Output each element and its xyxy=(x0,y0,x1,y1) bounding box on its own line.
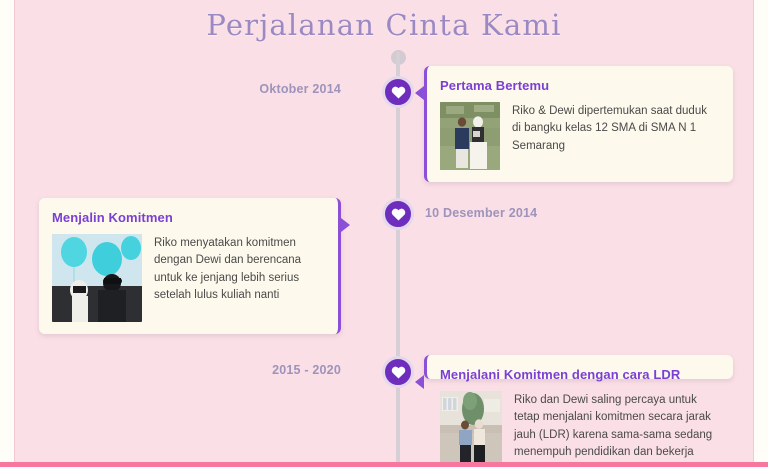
heart-icon xyxy=(391,365,406,379)
card-photo xyxy=(440,102,500,170)
timeline-card[interactable]: Menjalin Komitmen xyxy=(39,198,341,334)
timeline-card[interactable]: Menjalani Komitmen dengan cara LDR xyxy=(424,355,733,379)
card-notch-icon xyxy=(415,86,424,100)
photo-couple-building-icon xyxy=(440,391,502,467)
card-notch-icon xyxy=(415,375,424,389)
timeline-date: 2015 - 2020 xyxy=(272,363,341,377)
page-root: Perjalanan Cinta Kami Oktober 2014 Perta… xyxy=(0,0,768,467)
heart-icon xyxy=(391,207,406,221)
page-title: Perjalanan Cinta Kami xyxy=(15,8,753,42)
card-photo xyxy=(52,234,142,322)
card-title: Menjalani Komitmen dengan cara LDR xyxy=(440,367,719,382)
bottom-accent-bar xyxy=(0,462,768,467)
card-notch-icon xyxy=(341,218,350,232)
card-title: Menjalin Komitmen xyxy=(52,210,324,225)
card-title: Pertama Bertemu xyxy=(440,78,719,93)
photo-couple-field-icon xyxy=(440,102,500,170)
timeline-card[interactable]: Pertama Bertemu xyxy=(424,66,733,182)
timeline-marker[interactable] xyxy=(382,198,414,230)
timeline-marker[interactable] xyxy=(382,356,414,388)
photo-balloons-icon xyxy=(52,234,142,322)
timeline-marker[interactable] xyxy=(382,76,414,108)
timeline-spine xyxy=(396,52,400,462)
timeline-date: Oktober 2014 xyxy=(259,82,341,96)
page-canvas: Perjalanan Cinta Kami Oktober 2014 Perta… xyxy=(14,0,754,462)
card-photo xyxy=(440,391,502,467)
timeline-date: 10 Desember 2014 xyxy=(425,206,537,220)
heart-icon xyxy=(391,85,406,99)
card-text: Riko & Dewi dipertemukan saat duduk di b… xyxy=(512,102,719,155)
card-text: Riko menyatakan komitmen dengan Dewi dan… xyxy=(154,234,324,305)
card-text: Riko dan Dewi saling percaya untuk tetap… xyxy=(514,391,719,467)
